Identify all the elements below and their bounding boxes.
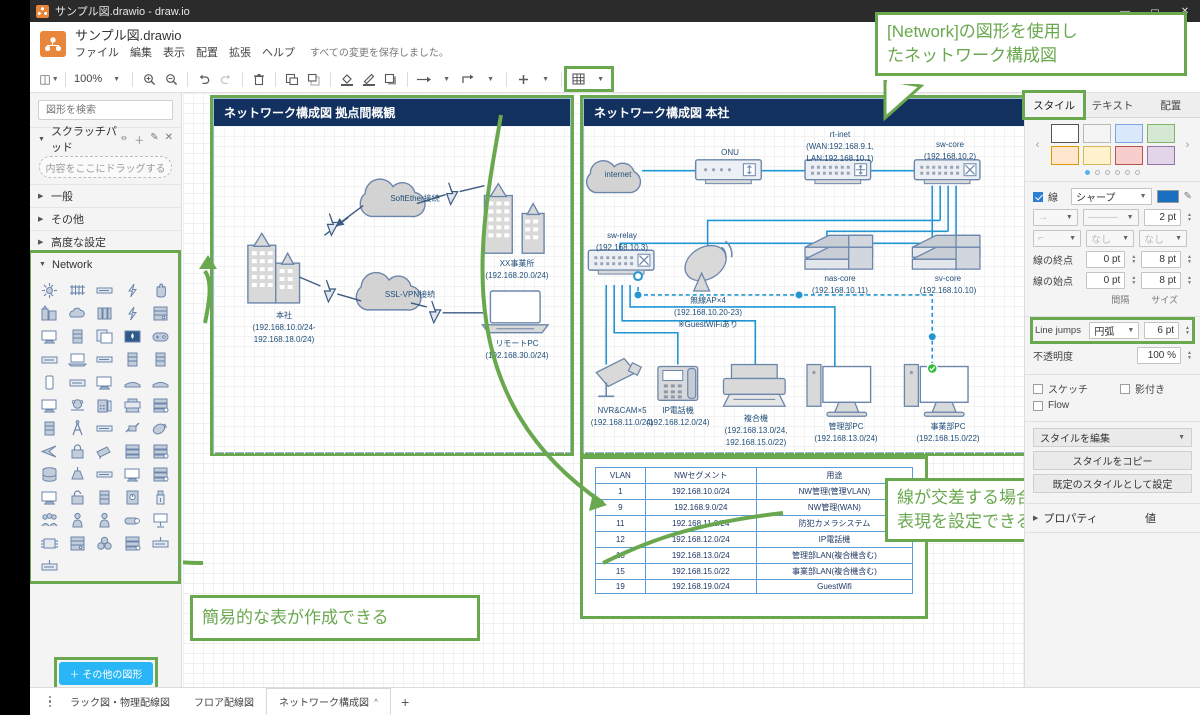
to-front-icon[interactable]: [281, 69, 303, 89]
pager-dot-5[interactable]: [1125, 170, 1130, 175]
cable-icon[interactable]: [92, 280, 118, 301]
menu-help[interactable]: ヘルプ: [262, 47, 295, 60]
chevron-right-icon: ▶: [38, 192, 45, 200]
node-label-rt-inet: rt-inet(WAN:192.168.9.1,LAN:192.168.10.1…: [806, 130, 874, 163]
next-swatches-icon[interactable]: ›: [1183, 139, 1192, 151]
opacity-input[interactable]: 100 %: [1137, 347, 1181, 364]
line-end-label: 線の終点: [1033, 252, 1081, 267]
edit-style-label: スタイルを編集: [1040, 430, 1110, 445]
mobile-icon[interactable]: [37, 372, 63, 393]
line-end-perimeter-input[interactable]: 0 pt: [1086, 251, 1126, 268]
mfp-printer-icon: [724, 365, 786, 407]
table-tool-highlight: ▼: [567, 69, 611, 89]
sv-core-server-icon: [912, 235, 980, 269]
scratchpad-droparea[interactable]: 内容をここにドラッグする: [39, 156, 172, 178]
buildings-icon[interactable]: [37, 303, 63, 324]
antenna-tower-icon[interactable]: [65, 418, 91, 439]
swatch-yellow[interactable]: [1083, 146, 1111, 165]
opacity-stepper[interactable]: ▲▼: [1187, 351, 1192, 361]
node-label-ip-phone: IP電話機(192.168.12.0/24): [646, 406, 709, 427]
opacity-row: 不透明度 100 % ▲▼: [1033, 347, 1192, 364]
workstation-icon[interactable]: [37, 326, 63, 347]
remote-pc-laptop-icon: [482, 291, 548, 333]
table-row[interactable]: 15192.168.15.0/22事業部LAN(複合機含む): [596, 564, 913, 580]
more-shapes-button[interactable]: ＋ その他の図形: [59, 662, 154, 685]
arrow-end-fill-select[interactable]: なし▼: [1086, 230, 1134, 247]
chevron-down-icon: ▼: [1069, 235, 1076, 242]
arrow-row-1: →▼ ———▼ 2 pt ▲▼: [1033, 209, 1192, 226]
screen-icon[interactable]: [120, 464, 146, 485]
table-row[interactable]: 1192.168.10.0/24NW管理(管理VLAN): [596, 484, 913, 500]
arrow-to-palette: [205, 271, 210, 323]
node-label-sw-core: sw-core(192.168.10.2): [924, 140, 976, 161]
toolbar-divider: [187, 72, 188, 87]
node-sw-core[interactable]: sw-core(192.168.10.2): [910, 138, 990, 162]
nvr-cam-camera-icon: [596, 359, 641, 397]
shadow-icon[interactable]: [380, 69, 402, 89]
zoom-level[interactable]: 100%: [71, 73, 105, 85]
display-icon[interactable]: [37, 487, 63, 508]
rack-icon[interactable]: [37, 418, 63, 439]
wedge-icon[interactable]: [37, 441, 63, 462]
line-dash-select[interactable]: ———▼: [1083, 209, 1139, 226]
waypoints-icon[interactable]: [457, 69, 479, 89]
table-header-cell-0: VLAN: [596, 468, 646, 484]
edge-waypoint-handle: [635, 291, 642, 298]
insert-caret-icon[interactable]: ▼: [534, 69, 556, 89]
document-title: サンプル図.drawio: [75, 28, 449, 44]
chevron-down-icon: ▼: [1140, 193, 1147, 200]
node-label-admin-pc: 管理部PC(192.168.13.0/24): [814, 422, 877, 443]
users-group-icon[interactable]: [37, 510, 63, 531]
wireless-router-icon[interactable]: [37, 556, 63, 577]
tower-pc-icon[interactable]: [65, 326, 91, 347]
search-input[interactable]: [44, 104, 180, 117]
toolbar-divider: [407, 72, 408, 87]
annotation-line-2: たネットワーク構成図: [887, 46, 1057, 65]
node-wireless-ap[interactable]: 無線AP×4(192.168.10.20-23)※GuestWiFiあり: [654, 294, 762, 330]
to-back-icon[interactable]: [303, 69, 325, 89]
properties-label: プロパティ: [1043, 510, 1097, 526]
node-sw-relay[interactable]: sw-relay(192.168.10.3): [582, 229, 662, 253]
swatch-white[interactable]: [1051, 124, 1079, 143]
node-internet[interactable]: internet: [592, 168, 644, 180]
line-width-input[interactable]: 2 pt: [1144, 209, 1181, 226]
diagram-inter-site[interactable]: ネットワーク構成図 拠点間概観: [213, 98, 571, 453]
gamepad-icon[interactable]: [147, 326, 173, 347]
sidebar-section-label: その他: [51, 211, 84, 227]
page-tabbar: ラック図・物理配線図 フロア配線図 ネットワーク構成図 ˄ +: [30, 687, 1200, 715]
waypoint-style-select[interactable]: ⌐▼: [1033, 230, 1081, 247]
swatch-purple[interactable]: [1147, 146, 1175, 165]
app-icon: [36, 5, 49, 18]
pager-dot-3[interactable]: [1105, 170, 1110, 175]
arrow-row-2: ⌐▼ なし▼ なし▼: [1033, 230, 1192, 247]
delete-icon[interactable]: [248, 69, 270, 89]
annotation-line-1: [Network]の図形を使用し: [887, 22, 1078, 41]
cloud-icon[interactable]: [65, 303, 91, 324]
server-stack-icon[interactable]: [120, 441, 146, 462]
storage-array-icon[interactable]: [92, 487, 118, 508]
sidebar-section-general[interactable]: ▶ 一般: [30, 184, 181, 207]
table-cell-col-2: 事業部LAN(複合機含む): [756, 564, 912, 580]
node-biz-pc[interactable]: 事業部PC(192.168.15.0/22): [898, 420, 998, 444]
table-row[interactable]: 19192.168.19.0/24GuestWifi: [596, 580, 913, 594]
chevron-down-icon: ▼: [1178, 434, 1185, 441]
node-label-remote-pc: リモートPC(192.168.30.0/24): [485, 339, 548, 360]
arrow-end-fill-value: なし: [1091, 231, 1111, 246]
wifi-router-icon[interactable]: [147, 533, 173, 554]
printer-icon[interactable]: [120, 395, 146, 416]
annotation-table: 簡易的な表が作成できる: [190, 595, 480, 641]
laptop-icon[interactable]: [65, 349, 91, 370]
edit-icon[interactable]: ✎: [150, 132, 158, 147]
node-xx-office[interactable]: XX事業所(192.168.20.0/24): [458, 257, 576, 281]
sidebar-section-label: 一般: [51, 188, 73, 204]
telephone-icon[interactable]: [65, 395, 91, 416]
connection-arrow-caret-icon[interactable]: ▼: [435, 69, 457, 89]
table-cell-col-2: GuestWifi: [756, 580, 912, 594]
patch-panel-icon[interactable]: [65, 280, 91, 301]
format-panel: スタイル テキスト 配置 ‹: [1024, 93, 1200, 687]
sidebar-section-scratchpad[interactable]: ▼ スクラッチパッド ⦵ ＋ ✎ ✕: [30, 127, 181, 150]
person-icon[interactable]: [92, 510, 118, 531]
flow-label: Flow: [1048, 400, 1069, 411]
lock-icon[interactable]: [65, 441, 91, 462]
node-label-softether: SoftEther接続: [390, 194, 439, 203]
node-label-mfp: 複合機(192.168.13.0/24,192.168.15.0/22): [725, 414, 788, 447]
toolbar-divider: [132, 72, 133, 87]
node-label-sv-core: sv-core(192.168.10.10): [920, 274, 977, 295]
line-color-swatch[interactable]: [1157, 190, 1179, 203]
node-mfp[interactable]: 複合機(192.168.13.0/24,192.168.15.0/22): [706, 412, 806, 448]
table-row[interactable]: 9192.168.9.0/24NW管理(WAN): [596, 500, 913, 516]
server-rack-icon[interactable]: [120, 349, 146, 370]
chevron-down-icon: ▼: [1127, 214, 1134, 221]
tab-arrange[interactable]: 配置: [1142, 93, 1200, 117]
line-jumps-section: Line jumps 円弧▼ 6 pt ▲▼ 不透明度 100 % ▲▼: [1025, 317, 1200, 375]
server-disk-icon[interactable]: [147, 395, 173, 416]
table-row[interactable]: 11192.168.11.0/24防犯カメラシステム: [596, 516, 913, 532]
line-start-row: 線の始点 0 pt ▲▼ 8 pt ▲▼: [1033, 272, 1192, 289]
line-color-icon[interactable]: [358, 69, 380, 89]
menu-arrange[interactable]: 配置: [196, 47, 218, 60]
undo-icon[interactable]: [193, 69, 215, 89]
shadow-checkbox[interactable]: [1120, 384, 1130, 394]
page-tab-floor[interactable]: フロア配線図: [182, 689, 266, 714]
pager-dot-4[interactable]: [1115, 170, 1120, 175]
node-nas-core[interactable]: nas-core(192.168.10.11): [788, 272, 892, 296]
wireless-hub-icon[interactable]: [37, 280, 63, 301]
properties-section[interactable]: ▶ プロパティ 値: [1025, 504, 1200, 533]
ups-icon[interactable]: [120, 487, 146, 508]
edge-waypoint-handle: [929, 333, 936, 340]
line-start-label: 線の始点: [1033, 273, 1081, 288]
diagram-hq[interactable]: ネットワーク構成図 本社: [583, 98, 1024, 453]
sketch-checkbox[interactable]: [1033, 384, 1043, 394]
line-start-perimeter-input[interactable]: 0 pt: [1086, 272, 1126, 289]
pager-dot-2[interactable]: [1095, 170, 1100, 175]
rack-unit-icon[interactable]: [147, 349, 173, 370]
copy-style-button[interactable]: スタイルをコピー: [1033, 451, 1192, 470]
presentation-icon[interactable]: [147, 510, 173, 531]
table-icon[interactable]: [567, 69, 589, 89]
bolt-icon[interactable]: [120, 303, 146, 324]
server-dot-icon[interactable]: [120, 533, 146, 554]
toolbar-divider: [561, 72, 562, 87]
sidebar-section-advanced[interactable]: ▶ 高度な設定: [30, 230, 181, 253]
line-width-stepper[interactable]: ▲▼: [1187, 213, 1192, 223]
help-icon[interactable]: ⦵: [120, 132, 128, 147]
sidebar-section-label: 高度な設定: [51, 234, 106, 250]
table-caret-icon[interactable]: ▼: [589, 69, 611, 89]
database-icon[interactable]: [37, 464, 63, 485]
xx-office-building-icon: [484, 184, 544, 254]
mainframe2-icon[interactable]: [65, 533, 91, 554]
firewall-icon[interactable]: [120, 326, 146, 347]
node-label-sw-relay: sw-relay(192.168.10.3): [596, 231, 648, 252]
line-end-perimeter-stepper[interactable]: ▲▼: [1131, 255, 1136, 265]
modem-icon[interactable]: [92, 349, 118, 370]
line-start-perimeter-stepper[interactable]: ▲▼: [1131, 276, 1136, 286]
diagram-title: ネットワーク構成図 拠点間概観: [214, 99, 570, 126]
table-cell-col-0: 19: [596, 580, 646, 594]
line-checkbox[interactable]: [1033, 192, 1043, 202]
usb-icon[interactable]: [147, 487, 173, 508]
router-icon[interactable]: [65, 372, 91, 393]
network-shape-palette: [31, 276, 178, 581]
swatch-red[interactable]: [1115, 146, 1143, 165]
shape-search[interactable]: [38, 100, 173, 120]
switch-icon[interactable]: [37, 349, 63, 370]
node-admin-pc[interactable]: 管理部PC(192.168.13.0/24): [796, 420, 896, 444]
arrow-start-select[interactable]: →▼: [1033, 209, 1078, 226]
menu-view[interactable]: 表示: [163, 47, 185, 60]
toolbar-divider: [330, 72, 331, 87]
table-cell-col-1: 192.168.12.0/24: [645, 532, 756, 548]
add-icon[interactable]: ＋: [134, 132, 144, 147]
table-row[interactable]: 13192.168.13.0/24管理部LAN(複合機含む): [596, 548, 913, 564]
column-headers: 間隔 サイズ: [1033, 293, 1192, 306]
pager-dot-1[interactable]: [1085, 170, 1090, 175]
col-perimeter-label: 間隔: [1111, 293, 1129, 306]
user-icon[interactable]: [65, 510, 91, 531]
add-page-button[interactable]: +: [391, 694, 419, 710]
line-end-row: 線の終点 0 pt ▲▼ 8 pt ▲▼: [1033, 251, 1192, 268]
menu-edit[interactable]: 編集: [130, 47, 152, 60]
line-jumps-select[interactable]: 円弧▼: [1089, 322, 1139, 339]
chip-icon[interactable]: [37, 533, 63, 554]
chevron-down-icon: ▼: [1175, 235, 1182, 242]
opacity-label: 不透明度: [1033, 348, 1132, 363]
edit-style-button[interactable]: スタイルを編集 ▼: [1033, 428, 1192, 447]
line-jumps-value: 円弧: [1094, 323, 1114, 338]
zoom-dropdown-icon[interactable]: ▼: [105, 69, 127, 89]
set-default-style-button[interactable]: 既定のスタイルとして設定: [1033, 474, 1192, 493]
node-label-wireless-ap: 無線AP×4(192.168.10.20-23)※GuestWiFiあり: [674, 296, 742, 329]
biohazard-icon[interactable]: [92, 533, 118, 554]
line-jumps-size-input[interactable]: 6 pt: [1144, 322, 1179, 339]
node-label-nas-core: nas-core(192.168.10.11): [812, 274, 868, 295]
node-remote-pc[interactable]: リモートPC(192.168.30.0/24): [458, 337, 576, 361]
tab-style[interactable]: スタイル: [1025, 93, 1083, 117]
arrow-start-value: →: [1038, 212, 1048, 223]
properties-value-label: 値: [1145, 510, 1156, 526]
arrow-loop: [183, 363, 203, 563]
drawio-logo-icon: [40, 31, 66, 57]
node-onu[interactable]: ONU: [700, 146, 760, 158]
line-style-value: シャープ: [1076, 189, 1115, 204]
copy-icon[interactable]: [92, 326, 118, 347]
chevron-down-icon: ▼: [38, 136, 45, 143]
vlan-table[interactable]: VLANNWセグメント用途1192.168.10.0/24NW管理(管理VLAN…: [595, 467, 913, 594]
wireless-ap-dish-icon: [679, 238, 733, 291]
line-dash-value: ———: [1088, 212, 1118, 223]
page-tab-network-label: ネットワーク構成図: [279, 694, 369, 709]
books-icon[interactable]: [92, 303, 118, 324]
table-cell-col-0: 9: [596, 500, 646, 516]
chevron-right-icon: ▶: [38, 215, 45, 223]
toolbar-divider: [506, 72, 507, 87]
waypoint-style-value: ⌐: [1038, 233, 1044, 244]
line-start-size-stepper[interactable]: ▲▼: [1187, 276, 1192, 286]
flow-checkbox[interactable]: [1033, 401, 1043, 411]
node-label-onu: ONU: [721, 148, 739, 157]
insert-icon[interactable]: [512, 69, 534, 89]
lightning-icon[interactable]: [120, 280, 146, 301]
page-tab-rack[interactable]: ラック図・物理配線図: [58, 689, 182, 714]
table-row[interactable]: 12192.168.12.0/24IP電話機: [596, 532, 913, 548]
satellite-dish-icon[interactable]: [147, 418, 173, 439]
table-cell-col-1: 192.168.11.0/24: [645, 516, 756, 532]
zoom-in-icon[interactable]: [138, 69, 160, 89]
effects-section: スケッチ 影付き Flow: [1025, 375, 1200, 422]
diagram-body: 本社(192.168.10.0/24-192.168.18.0/24) Soft…: [214, 126, 570, 454]
network-section-highlight: ▼ Network: [31, 253, 178, 581]
line-end-size-input[interactable]: 8 pt: [1141, 251, 1181, 268]
arrow-end-size-select[interactable]: なし▼: [1139, 230, 1187, 247]
toolbar-divider: [275, 72, 276, 87]
projector-icon[interactable]: [120, 510, 146, 531]
sketch-label: スケッチ: [1048, 381, 1088, 396]
table-cell-col-1: 192.168.9.0/24: [645, 500, 756, 516]
tab-text[interactable]: テキスト: [1083, 93, 1141, 117]
pager-dot-6[interactable]: [1135, 170, 1140, 175]
toolbar-divider: [242, 72, 243, 87]
swatch-section: ‹ ›: [1025, 118, 1200, 182]
line-color-picker-icon[interactable]: ✎: [1184, 191, 1192, 202]
hand-cursor-icon[interactable]: [147, 280, 173, 301]
zoom-out-icon[interactable]: [160, 69, 182, 89]
swatch-pager: [1033, 170, 1192, 175]
line-end-size-stepper[interactable]: ▲▼: [1187, 255, 1192, 265]
chevron-up-icon[interactable]: ˄: [374, 698, 378, 705]
onu-modem-icon: [696, 160, 762, 184]
close-icon[interactable]: ✕: [165, 132, 173, 147]
table-cell-col-0: 1: [596, 484, 646, 500]
line-jumps-size-stepper[interactable]: ▲▼: [1185, 326, 1190, 336]
sidebar-section-network[interactable]: ▼ Network: [31, 253, 178, 276]
nas-core-server-icon: [805, 235, 873, 269]
ip-phone-icon[interactable]: [92, 395, 118, 416]
node-softether[interactable]: SoftEther接続: [369, 192, 461, 204]
node-sslvpn[interactable]: SSL-VPN接続: [364, 288, 456, 300]
view-panels-icon[interactable]: ◫▼: [38, 69, 60, 89]
line-style-select[interactable]: シャープ ▼: [1071, 188, 1152, 205]
shadow-label: 影付き: [1135, 381, 1165, 396]
table-cell-col-1: 192.168.15.0/22: [645, 564, 756, 580]
swatch-row-1: [1042, 124, 1183, 143]
mainframe-icon[interactable]: [147, 303, 173, 324]
scanner-icon[interactable]: [147, 372, 173, 393]
swatch-row-2: [1042, 146, 1183, 165]
kebab-menu-icon[interactable]: [42, 696, 58, 708]
chevron-right-icon: ▶: [1033, 514, 1038, 522]
node-rt-inet[interactable]: rt-inet(WAN:192.168.9.1,LAN:192.168.10.1…: [800, 128, 880, 164]
annotation-network-shapes: [Network]の図形を使用し たネットワーク構成図: [875, 12, 1187, 76]
redo-icon: [215, 69, 237, 89]
monitor-icon[interactable]: [92, 372, 118, 393]
menu-file[interactable]: ファイル: [75, 47, 119, 60]
node-label-sslvpn: SSL-VPN接続: [385, 290, 435, 299]
server-files-icon[interactable]: [147, 441, 173, 462]
swatch-gray[interactable]: [1083, 124, 1111, 143]
chevron-down-icon: ▼: [39, 261, 46, 268]
sw-core-switch-icon: [914, 160, 980, 184]
admin-pc-desktop-icon: [807, 365, 871, 417]
bar-device-icon[interactable]: [92, 418, 118, 439]
table-cell-col-0: 13: [596, 548, 646, 564]
table-cell-col-2: 管理部LAN(複合機含む): [756, 548, 912, 564]
connection-arrow-icon[interactable]: [413, 69, 435, 89]
page-tab-network[interactable]: ネットワーク構成図 ˄: [266, 688, 391, 715]
menu-bar: ファイル 編集 表示 配置 拡張 ヘルプ すべての変更を保存しました。: [75, 47, 449, 60]
swatch-blue[interactable]: [1115, 124, 1143, 143]
line-start-size-input[interactable]: 8 pt: [1141, 272, 1181, 289]
node-honsha[interactable]: 本社(192.168.10.0/24-192.168.18.0/24): [224, 309, 344, 345]
node-label-internet: internet: [605, 170, 632, 179]
server-gear-icon[interactable]: [147, 464, 173, 485]
line-label: 線: [1048, 189, 1058, 204]
hub-icon[interactable]: [65, 464, 91, 485]
prev-swatches-icon[interactable]: ‹: [1033, 139, 1042, 151]
diagram-body: internet ONU rt-inet(WAN:192.168.9.1,LAN…: [584, 126, 1024, 454]
edge-source-handle: [634, 272, 642, 280]
unlock-icon[interactable]: [65, 487, 91, 508]
sidebar-section-misc[interactable]: ▶ その他: [30, 207, 181, 230]
table-cell-col-0: 11: [596, 516, 646, 532]
format-tabs: スタイル テキスト 配置: [1025, 93, 1200, 118]
device-icon[interactable]: [120, 372, 146, 393]
menu-extras[interactable]: 拡張: [229, 47, 251, 60]
shapes-sidebar: ▼ スクラッチパッド ⦵ ＋ ✎ ✕ 内容をここにドラッグする ▶ 一般 ▶ そ…: [30, 93, 182, 687]
desktop-icon[interactable]: [37, 395, 63, 416]
waypoints-caret-icon[interactable]: ▼: [479, 69, 501, 89]
sidebar-section-label: スクラッチパッド: [51, 123, 120, 155]
ip-phone-icon: [658, 367, 698, 401]
satellite-icon[interactable]: [120, 418, 146, 439]
fill-color-icon[interactable]: [336, 69, 358, 89]
node-sv-core[interactable]: sv-core(192.168.10.10): [896, 272, 1000, 296]
swatch-green[interactable]: [1147, 124, 1175, 143]
swatch-orange[interactable]: [1051, 146, 1079, 165]
table-cell-col-0: 12: [596, 532, 646, 548]
style-buttons-section: スタイルを編集 ▼ スタイルをコピー 既定のスタイルとして設定: [1025, 422, 1200, 504]
bar-icon[interactable]: [92, 464, 118, 485]
annotation-line-2: 表現を設定できる: [897, 512, 1033, 531]
cctv-camera-icon[interactable]: [92, 441, 118, 462]
sw-relay-switch-icon: [588, 250, 654, 274]
